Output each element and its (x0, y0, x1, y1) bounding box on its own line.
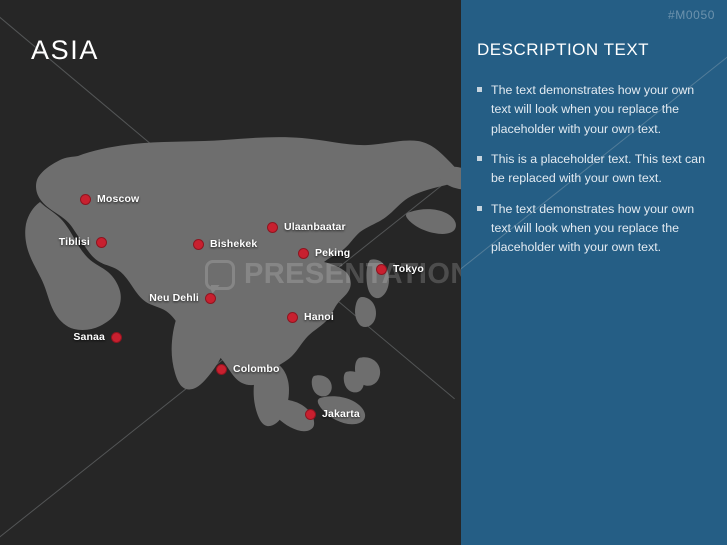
map-pin-icon (287, 312, 298, 323)
map-pin-icon (193, 239, 204, 250)
city-label: Colombo (233, 363, 280, 375)
city-marker[interactable]: Jakarta (305, 408, 360, 420)
city-marker[interactable]: Bishekek (193, 238, 257, 250)
city-label: Sanaa (73, 331, 105, 343)
description-panel: #M0050 DESCRIPTION TEXT The text demonst… (461, 0, 727, 545)
city-label: Ulaanbaatar (284, 221, 346, 233)
map-pin-icon (376, 264, 387, 275)
square-bullet-icon (477, 206, 482, 211)
city-marker[interactable]: Sanaa (73, 331, 122, 343)
city-marker[interactable]: Ulaanbaatar (267, 221, 346, 233)
slide-canvas: ASIA PRESENTATIONLOAD MoscowTiblisiBishe… (0, 0, 727, 545)
map-pin-icon (96, 237, 107, 248)
city-marker[interactable]: Tokyo (376, 263, 424, 275)
city-label: Neu Dehli (149, 292, 199, 304)
page-title: ASIA (31, 36, 99, 66)
bullet-text: The text demonstrates how your own text … (491, 200, 709, 258)
panel-title: DESCRIPTION TEXT (477, 40, 649, 60)
city-marker[interactable]: Neu Dehli (149, 292, 216, 304)
city-marker[interactable]: Hanoi (287, 311, 334, 323)
map-pin-icon (111, 332, 122, 343)
city-marker[interactable]: Colombo (216, 363, 280, 375)
city-marker[interactable]: Tiblisi (59, 236, 107, 248)
bullet-item: This is a placeholder text. This text ca… (477, 150, 709, 189)
template-code: #M0050 (668, 8, 715, 22)
city-marker[interactable]: Peking (298, 247, 350, 259)
bullet-item: The text demonstrates how your own text … (477, 81, 709, 139)
city-label: Moscow (97, 193, 139, 205)
map-pin-icon (216, 364, 227, 375)
map-pin-icon (205, 293, 216, 304)
city-label: Peking (315, 247, 350, 259)
bullet-text: This is a placeholder text. This text ca… (491, 150, 709, 189)
city-label: Hanoi (304, 311, 334, 323)
square-bullet-icon (477, 87, 482, 92)
bullet-item: The text demonstrates how your own text … (477, 200, 709, 258)
map-pin-icon (298, 248, 309, 259)
city-marker[interactable]: Moscow (80, 193, 139, 205)
map-pin-icon (80, 194, 91, 205)
map-pin-icon (267, 222, 278, 233)
bullet-list: The text demonstrates how your own text … (477, 81, 709, 269)
square-bullet-icon (477, 156, 482, 161)
map-pin-icon (305, 409, 316, 420)
city-label: Jakarta (322, 408, 360, 420)
city-label: Tokyo (393, 263, 424, 275)
city-label: Tiblisi (59, 236, 90, 248)
city-label: Bishekek (210, 238, 257, 250)
bullet-text: The text demonstrates how your own text … (491, 81, 709, 139)
